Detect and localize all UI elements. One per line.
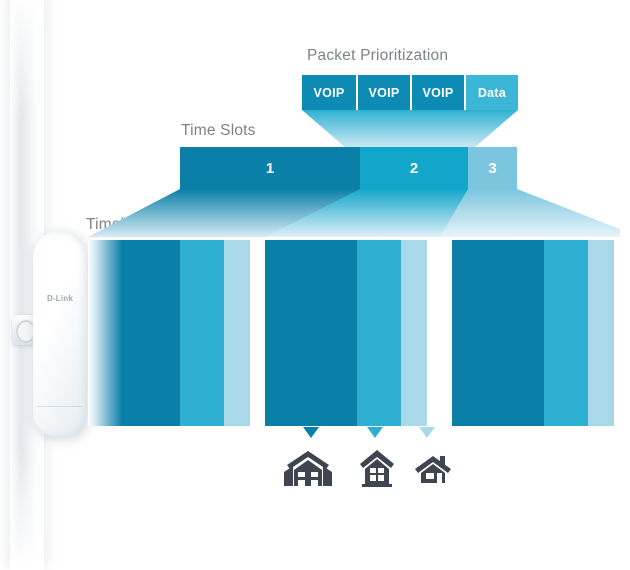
arrow-down-icon (367, 427, 383, 438)
packet-block-voip-0: VOIP (302, 75, 358, 110)
funnel-shape (302, 110, 518, 148)
dlink-logo: D-Link (33, 294, 87, 303)
time-slots-label: Time Slots (181, 122, 256, 140)
packet-block-voip-1: VOIP (358, 75, 412, 110)
timeline-band-2 (357, 240, 401, 426)
arrow-down-icon (303, 427, 319, 438)
arrow-down-icon (419, 427, 435, 438)
timeline-group (88, 240, 250, 426)
slot-to-timeline-funnel (80, 189, 620, 237)
funnel-segment-3 (440, 189, 620, 237)
pole-top-fade (10, 0, 44, 120)
timeline-band-2 (544, 240, 588, 426)
timeline-band-3 (224, 240, 250, 426)
timeline-band-2 (180, 240, 224, 426)
packet-to-slot-funnel (302, 110, 518, 148)
time-slot-2: 2 (360, 147, 468, 189)
house-small-icon (413, 448, 453, 484)
timeline-group (265, 240, 427, 426)
timeline-band-3 (401, 240, 427, 426)
timeline-group (452, 240, 614, 426)
house-large-icon (284, 448, 332, 488)
time-slot-3: 3 (468, 147, 517, 189)
time-slot-1: 1 (180, 147, 360, 189)
timeline-band-1 (452, 240, 544, 426)
packet-block-voip-2: VOIP (412, 75, 466, 110)
packet-queue: VOIPVOIPVOIPData (302, 75, 518, 110)
pole-bottom-fade (10, 450, 44, 570)
house-tall-icon (357, 448, 397, 488)
packet-prioritization-label: Packet Prioritization (307, 47, 448, 65)
time-slot-bar: 123 (180, 147, 517, 189)
timeline-band-1 (265, 240, 357, 426)
timeline-band-1 (88, 240, 180, 426)
diagram-canvas: D-Link Packet Prioritization Time Slots … (0, 0, 630, 559)
packet-block-data-3: Data (466, 75, 518, 110)
device-seam (37, 406, 82, 407)
timeline-band-3 (588, 240, 614, 426)
